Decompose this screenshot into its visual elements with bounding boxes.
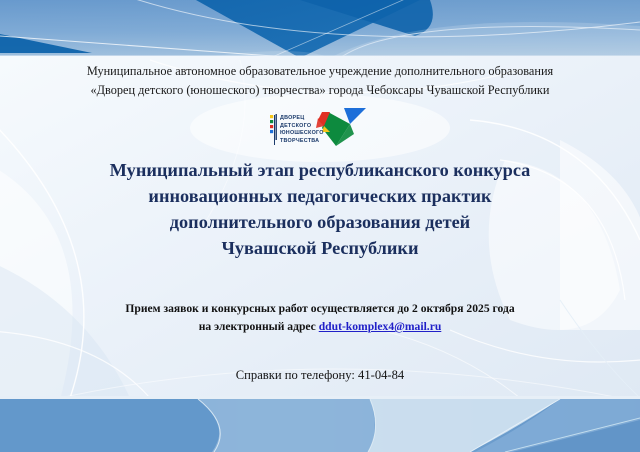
organization-logo: ДВОРЕЦ ДЕТСКОГО ЮНОШЕСКОГО ТВОРЧЕСТВА — [266, 106, 374, 152]
slide-content: Муниципальное автономное образовательное… — [0, 0, 640, 452]
title-line-2: инновационных педагогических практик — [45, 183, 595, 209]
logo-text-line-1: ДВОРЕЦ — [280, 115, 324, 123]
title-line-1: Муниципальный этап республиканского конк… — [45, 157, 595, 183]
logo-text-line-3: ЮНОШЕСКОГО — [280, 130, 324, 138]
organization-header: Муниципальное автономное образовательное… — [40, 62, 600, 100]
logo-text-block: ДВОРЕЦ ДЕТСКОГО ЮНОШЕСКОГО ТВОРЧЕСТВА — [274, 115, 324, 145]
submission-email-prefix: на электронный адрес — [199, 320, 319, 333]
contact-phone: Справки по телефону: 41-04-84 — [45, 368, 595, 383]
presentation-slide: Муниципальное автономное образовательное… — [0, 0, 640, 452]
logo-text-line-4: ТВОРЧЕСТВА — [280, 138, 324, 146]
title-line-4: Чувашской Республики — [45, 235, 595, 261]
submission-deadline-line: Прием заявок и конкурсных работ осуществ… — [45, 300, 595, 318]
logo-text-line-2: ДЕТСКОГО — [280, 123, 324, 131]
title-line-3: дополнительного образования детей — [45, 209, 595, 235]
email-link[interactable]: ddut-komplex4@mail.ru — [319, 320, 442, 333]
submission-info: Прием заявок и конкурсных работ осуществ… — [45, 300, 595, 336]
org-header-line-2: «Дворец детского (юношеского) творчества… — [40, 81, 600, 100]
submission-email-line: на электронный адрес ddut-komplex4@mail.… — [45, 318, 595, 336]
slide-title: Муниципальный этап республиканского конк… — [45, 157, 595, 261]
org-header-line-1: Муниципальное автономное образовательное… — [40, 62, 600, 81]
